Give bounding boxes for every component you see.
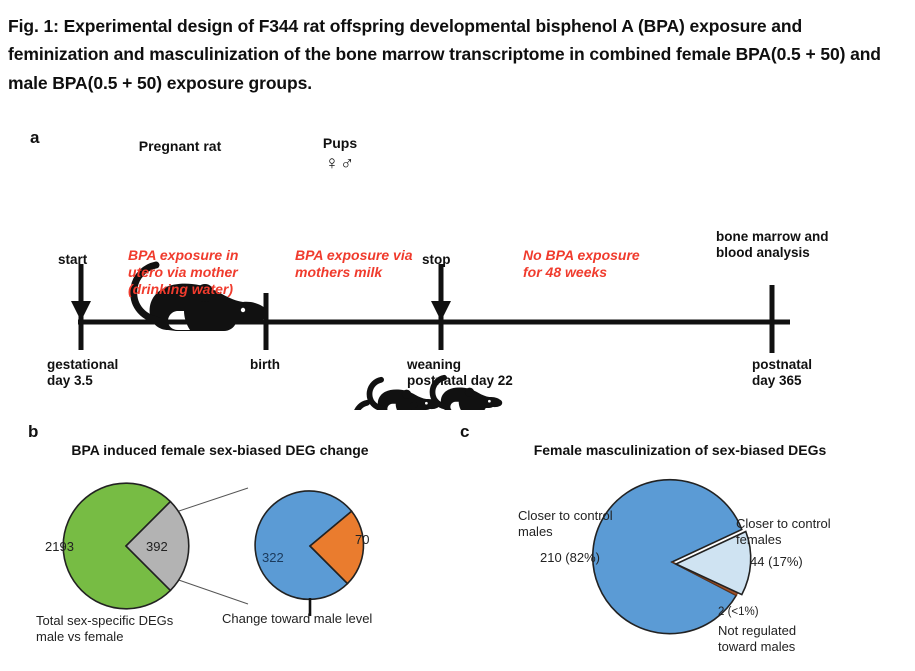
figure-caption: Fig. 1: Experimental design of F344 rat … <box>8 12 903 97</box>
tick-label-birth: birth <box>250 357 340 373</box>
tick-label-postnatal-365: postnatal day 365 <box>752 357 882 389</box>
tick-label-gestational: gestational day 3.5 <box>47 357 197 389</box>
endpoint-label-bone-marrow: bone marrow and blood analysis <box>716 229 896 261</box>
pie-left-total-degs <box>63 483 189 609</box>
label-closer-to-control-males: Closer to control males <box>518 508 688 541</box>
value-not-regulated-toward-males: 2 (<1%) <box>718 606 759 618</box>
pie-value-392: 392 <box>146 539 168 554</box>
red-note-no-exposure: No BPA exposure for 48 weeks <box>523 247 683 281</box>
label-not-regulated-toward-males: Not regulated toward males <box>718 623 888 656</box>
value-closer-to-control-females: 44 (17%) <box>750 554 803 569</box>
pie-value-70: 70 <box>355 532 369 547</box>
panel-b-left-caption: Total sex-specific DEGs male vs female <box>36 613 236 646</box>
panel-b-deg-change: b BPA induced female sex-biased DEG chan… <box>0 420 440 671</box>
panel-c-female-masculinization: c Female masculinization of sex-biased D… <box>440 420 915 671</box>
panel-a-experimental-timeline: a <box>0 125 915 410</box>
red-note-in-utero: BPA exposure in utero via mother (drinki… <box>128 247 288 298</box>
red-note-mothers-milk: BPA exposure via mothers milk <box>295 247 455 281</box>
pups-label: Pups <box>300 135 380 151</box>
pie-value-322: 322 <box>262 550 284 565</box>
value-closer-to-control-males: 210 (82%) <box>540 550 600 565</box>
pie-value-2193: 2193 <box>45 539 74 554</box>
start-label: start <box>58 252 87 268</box>
tick-label-weaning: weaning postnatal day 22 <box>407 357 587 389</box>
pregnant-rat-label: Pregnant rat <box>120 138 240 154</box>
panel-b-right-caption: Change toward male level <box>222 611 432 627</box>
sex-symbols-female-male: ♀♂ <box>300 153 380 175</box>
start-arrow-icon <box>71 264 91 321</box>
label-closer-to-control-females: Closer to control females <box>736 516 896 549</box>
